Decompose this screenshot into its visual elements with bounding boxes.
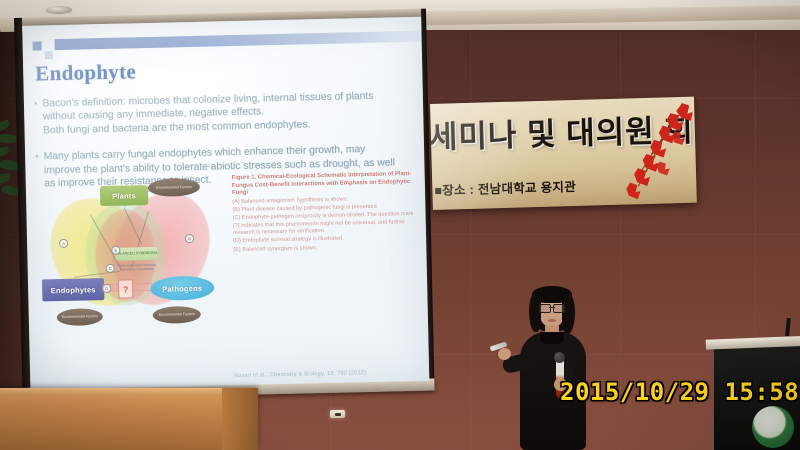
slide-citation: Kusari et al., Chemistry & Biology, 19, … (234, 370, 366, 379)
presenter (496, 286, 612, 450)
bullet-line: Bacon's definition: microbes that coloni… (42, 91, 373, 110)
glasses-icon (539, 304, 565, 311)
diagram-question-mark: ? (118, 279, 133, 298)
presenter-mouth (548, 319, 556, 322)
bullet-marker-icon: • (34, 97, 38, 137)
slide-surface: Endophyte • Bacon's definition: microbes… (22, 17, 429, 390)
diagram-node-pathogens: Pathogens (150, 276, 215, 301)
bullet-item: • Bacon's definition: microbes that colo… (34, 89, 416, 138)
figure-caption-line: (C) Endophyte-pathogen reciprocity is de… (233, 211, 418, 237)
diagram-node-env-2: Environmental Factors (57, 308, 103, 326)
figure-diagram: Environmental Factors Environmental Fact… (38, 177, 219, 331)
slide-header-bar (54, 31, 419, 50)
slide-figure-area: Environmental Factors Environmental Fact… (34, 169, 426, 386)
figure-caption-title: Figure 1. Chemical-Ecological Schematic … (232, 171, 417, 198)
wall-lamp-icon (330, 410, 345, 418)
slide-decoration-square (33, 41, 42, 50)
ceiling-light-icon (46, 6, 72, 13)
figure-caption: Figure 1. Chemical-Ecological Schematic … (232, 171, 419, 254)
presenter-hair-left (529, 294, 541, 332)
presenter-hair-right (562, 294, 575, 334)
event-banner: 세미나 및 대의원 회의 ■장소 : 전남대학교 용지관 (430, 97, 697, 210)
table-top (0, 388, 258, 396)
projection-screen: Endophyte • Bacon's definition: microbes… (14, 9, 434, 390)
diagram-node-synergism: BALANCED SYNERGISM (115, 247, 157, 261)
podium-emblem-icon (752, 406, 794, 448)
diagram-node-endophytes: Endophytes (42, 278, 104, 301)
banner-sheen (430, 97, 697, 210)
slide-decoration-square (45, 51, 53, 59)
presenter-collar (540, 332, 564, 344)
diagram-node-env-1: Environmental Factors (148, 178, 200, 197)
diagram-node-plants: Plants (100, 185, 148, 206)
diagram-side-note: Plant-associated bacteria secondary meta… (114, 263, 160, 272)
table-edge (222, 388, 258, 450)
slide-title: Endophyte (35, 59, 136, 86)
diagram-node-env-3: Environmental Factors (153, 306, 201, 324)
camera-timestamp: 2015/10/29 15:58 (560, 378, 799, 406)
bullet-text: Bacon's definition: microbes that coloni… (42, 90, 374, 138)
lecture-hall-photo: Endophyte • Bacon's definition: microbes… (0, 0, 800, 450)
microphone-head-icon (554, 352, 565, 363)
wooden-table (0, 388, 258, 450)
